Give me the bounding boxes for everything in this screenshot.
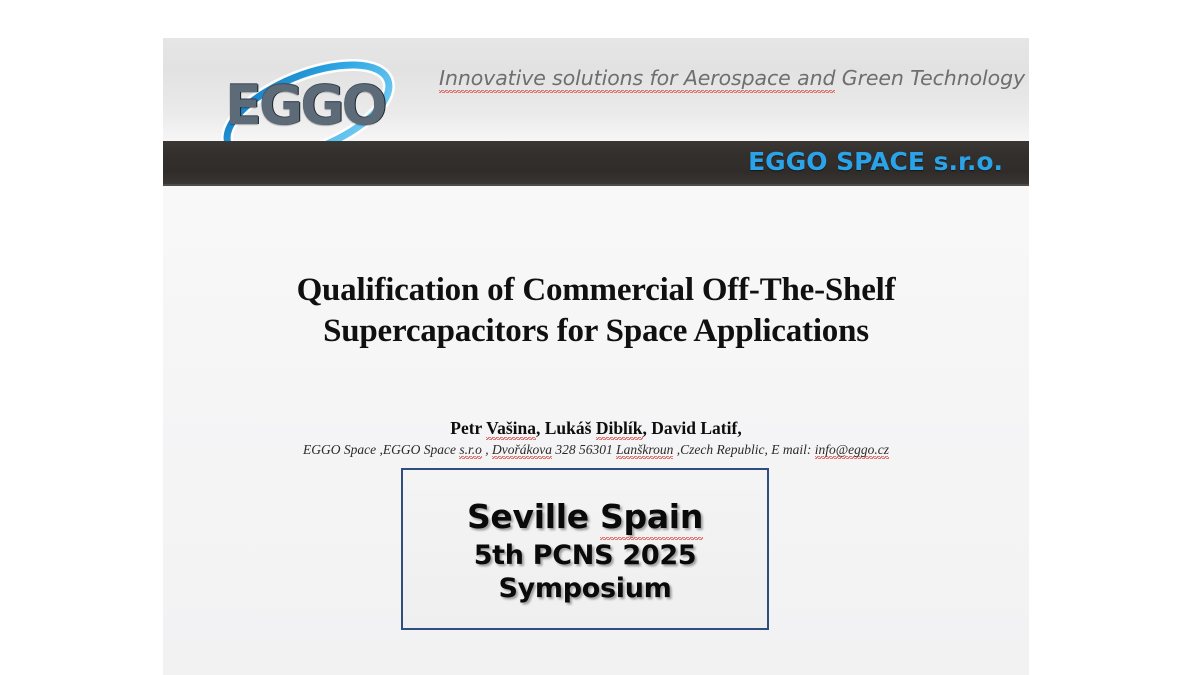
page-title: Qualification of Commercial Off-The-Shel… (203, 270, 989, 353)
affil-part-1: EGGO Space ,EGGO Space (303, 442, 459, 457)
affil-city: Lanškroun (616, 442, 673, 459)
event-type: Symposium (498, 574, 671, 603)
author-name-vasina: Vašina (486, 418, 536, 440)
title-line-2: Supercapacitors for Space Applications (203, 311, 989, 352)
company-tagline: Innovative solutions for Aerospace and G… (439, 66, 1014, 90)
affil-part-4: ,Czech Republic, E mail: (673, 442, 814, 457)
event-country: Spain (600, 497, 703, 540)
event-info-box: Seville Spain 5th PCNS 2025 Symposium (401, 468, 769, 630)
affil-street: Dvořákova (492, 442, 552, 459)
tagline-underlined-part: Innovative solutions for Aerospace and (439, 66, 835, 93)
presentation-slide: EGGO Innovative solutions for Aerospace … (163, 38, 1029, 675)
eggo-logo-text: EGGO (225, 78, 384, 132)
event-name: 5th PCNS 2025 (474, 541, 697, 570)
tagline-plain-part: Green Technology (835, 66, 1025, 90)
affil-part-2: , (482, 442, 492, 457)
company-banner: EGGO SPACE s.r.o. (163, 141, 1029, 186)
author-name-diblik: Diblík (596, 418, 643, 440)
affil-sro: s.r.o (459, 442, 482, 459)
affiliation-line: EGGO Space ,EGGO Space s.r.o , Dvořákova… (183, 442, 1009, 458)
event-location: Seville Spain (467, 499, 703, 535)
company-name: EGGO SPACE s.r.o. (748, 147, 1003, 176)
event-city: Seville (467, 497, 600, 536)
authors-mid: , Lukáš (536, 418, 596, 438)
title-line-1: Qualification of Commercial Off-The-Shel… (203, 270, 989, 311)
authors-post: , David Latif, (643, 418, 742, 438)
authors-line: Petr Vašina, Lukáš Diblík, David Latif, (203, 418, 989, 439)
affil-part-3: 328 56301 (552, 442, 616, 457)
affil-email: info@eggo.cz (815, 442, 889, 459)
authors-pre: Petr (450, 418, 486, 438)
